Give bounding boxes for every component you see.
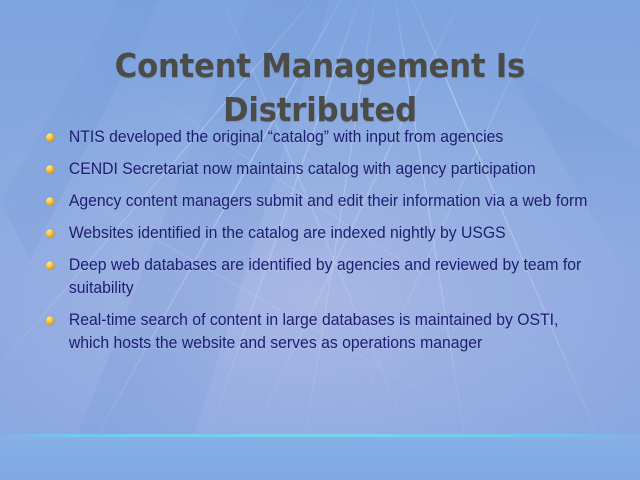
list-item-text: NTIS developed the original “catalog” wi… [69, 126, 592, 149]
list-item: CENDI Secretariat now maintains catalog … [44, 158, 592, 181]
presentation-slide: Content Management Is Distributed NTIS d… [0, 0, 640, 480]
slide-title: Content Management Is Distributed [22, 44, 617, 132]
list-item-text: Deep web databases are identified by age… [69, 254, 592, 300]
horizon-band [0, 437, 640, 480]
list-item: Agency content managers submit and edit … [44, 190, 592, 213]
list-item-text: CENDI Secretariat now maintains catalog … [69, 158, 592, 181]
bullet-list: NTIS developed the original “catalog” wi… [44, 126, 618, 364]
list-item: Real-time search of content in large dat… [44, 309, 592, 355]
list-item-text: Real-time search of content in large dat… [69, 309, 592, 355]
gold-sphere-bullet-icon [46, 165, 55, 174]
gold-sphere-bullet-icon [46, 133, 55, 142]
gold-sphere-bullet-icon [46, 261, 55, 270]
gold-sphere-bullet-icon [46, 197, 55, 206]
list-item: Websites identified in the catalog are i… [44, 222, 592, 245]
list-item-text: Agency content managers submit and edit … [69, 190, 592, 213]
horizon-accent-line [0, 434, 640, 437]
list-item: NTIS developed the original “catalog” wi… [44, 126, 592, 149]
gold-sphere-bullet-icon [46, 316, 55, 325]
list-item-text: Websites identified in the catalog are i… [69, 222, 592, 245]
list-item: Deep web databases are identified by age… [44, 254, 592, 300]
gold-sphere-bullet-icon [46, 229, 55, 238]
